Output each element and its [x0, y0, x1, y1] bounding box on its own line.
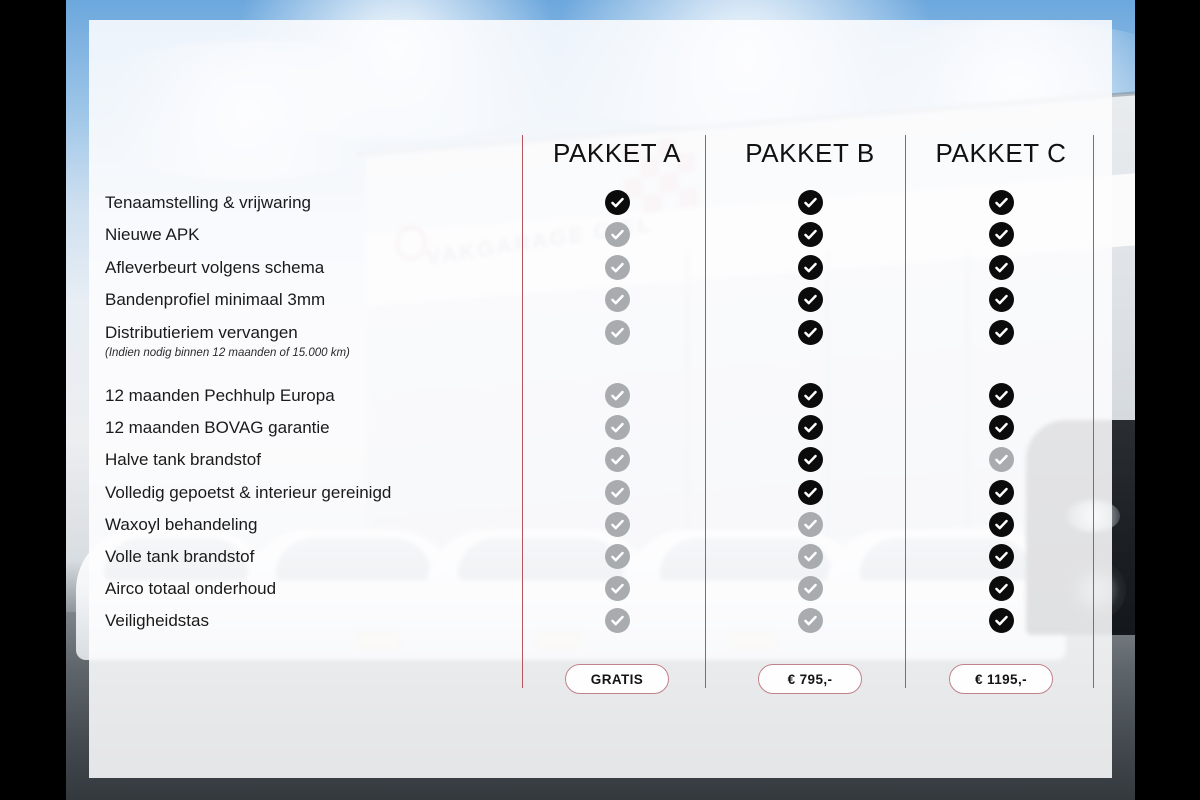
- feature-label: Bandenprofiel minimaal 3mm: [105, 290, 325, 310]
- check-circle-icon-excluded: [798, 544, 823, 569]
- price-badge-2[interactable]: € 795,-: [758, 664, 862, 694]
- column-header-3: PAKKET C: [891, 138, 1111, 169]
- check-circle-icon-included: [989, 255, 1014, 280]
- check-circle-icon-excluded: [798, 576, 823, 601]
- column-divider-1: [522, 135, 523, 688]
- check-circle-icon-excluded: [605, 415, 630, 440]
- check-circle-icon-excluded: [605, 320, 630, 345]
- check-circle-icon-excluded: [605, 544, 630, 569]
- check-circle-icon-excluded: [989, 447, 1014, 472]
- check-circle-icon-included: [798, 320, 823, 345]
- check-circle-icon-included: [798, 255, 823, 280]
- check-circle-icon-excluded: [605, 608, 630, 633]
- price-badge-1[interactable]: GRATIS: [565, 664, 669, 694]
- check-circle-icon-included: [989, 415, 1014, 440]
- check-circle-icon-included: [798, 190, 823, 215]
- feature-label: Nieuwe APK: [105, 225, 200, 245]
- comparison-panel: PAKKET APAKKET BPAKKET CTenaamstelling &…: [89, 20, 1112, 778]
- feature-label: 12 maanden Pechhulp Europa: [105, 386, 335, 406]
- feature-label: Afleverbeurt volgens schema: [105, 258, 324, 278]
- check-circle-icon-excluded: [605, 447, 630, 472]
- check-circle-icon-excluded: [605, 576, 630, 601]
- column-header-1: PAKKET A: [507, 138, 727, 169]
- check-circle-icon-included: [989, 190, 1014, 215]
- check-circle-icon-included: [989, 576, 1014, 601]
- feature-label: Airco totaal onderhoud: [105, 579, 276, 599]
- column-header-2: PAKKET B: [700, 138, 920, 169]
- check-circle-icon-included: [605, 190, 630, 215]
- feature-label: Volledig gepoetst & interieur gereinigd: [105, 483, 391, 503]
- letterbox-bar-right: [1135, 0, 1200, 800]
- check-circle-icon-included: [989, 383, 1014, 408]
- check-circle-icon-included: [989, 222, 1014, 247]
- price-badge-3[interactable]: € 1195,-: [949, 664, 1053, 694]
- feature-label: Halve tank brandstof: [105, 450, 261, 470]
- check-circle-icon-excluded: [798, 512, 823, 537]
- check-circle-icon-included: [798, 287, 823, 312]
- check-circle-icon-excluded: [605, 383, 630, 408]
- column-divider-3: [905, 135, 906, 688]
- check-circle-icon-included: [989, 608, 1014, 633]
- check-circle-icon-included: [798, 447, 823, 472]
- check-circle-icon-included: [798, 222, 823, 247]
- check-circle-icon-included: [798, 480, 823, 505]
- check-circle-icon-included: [798, 415, 823, 440]
- feature-label: Waxoyl behandeling: [105, 515, 257, 535]
- column-divider-4: [1093, 135, 1094, 688]
- check-circle-icon-included: [989, 320, 1014, 345]
- feature-label: Distributieriem vervangen: [105, 323, 298, 343]
- letterbox-bar-left: [0, 0, 66, 800]
- check-circle-icon-excluded: [605, 480, 630, 505]
- screenshot-stage: VAKGARAGE GIEL PAKKET APAKKET BPAKKET CT…: [0, 0, 1200, 800]
- check-circle-icon-excluded: [798, 608, 823, 633]
- feature-label: 12 maanden BOVAG garantie: [105, 418, 330, 438]
- feature-label: Veiligheidstas: [105, 611, 209, 631]
- check-circle-icon-included: [989, 287, 1014, 312]
- feature-label: Volle tank brandstof: [105, 547, 254, 567]
- check-circle-icon-included: [798, 383, 823, 408]
- column-divider-2: [705, 135, 706, 688]
- feature-subnote: (Indien nodig binnen 12 maanden of 15.00…: [105, 347, 350, 359]
- check-circle-icon-excluded: [605, 512, 630, 537]
- check-circle-icon-included: [989, 480, 1014, 505]
- check-circle-icon-excluded: [605, 287, 630, 312]
- check-circle-icon-included: [989, 512, 1014, 537]
- check-circle-icon-excluded: [605, 255, 630, 280]
- feature-label: Tenaamstelling & vrijwaring: [105, 193, 311, 213]
- check-circle-icon-excluded: [605, 222, 630, 247]
- package-comparison-table: PAKKET APAKKET BPAKKET CTenaamstelling &…: [89, 20, 1112, 778]
- check-circle-icon-included: [989, 544, 1014, 569]
